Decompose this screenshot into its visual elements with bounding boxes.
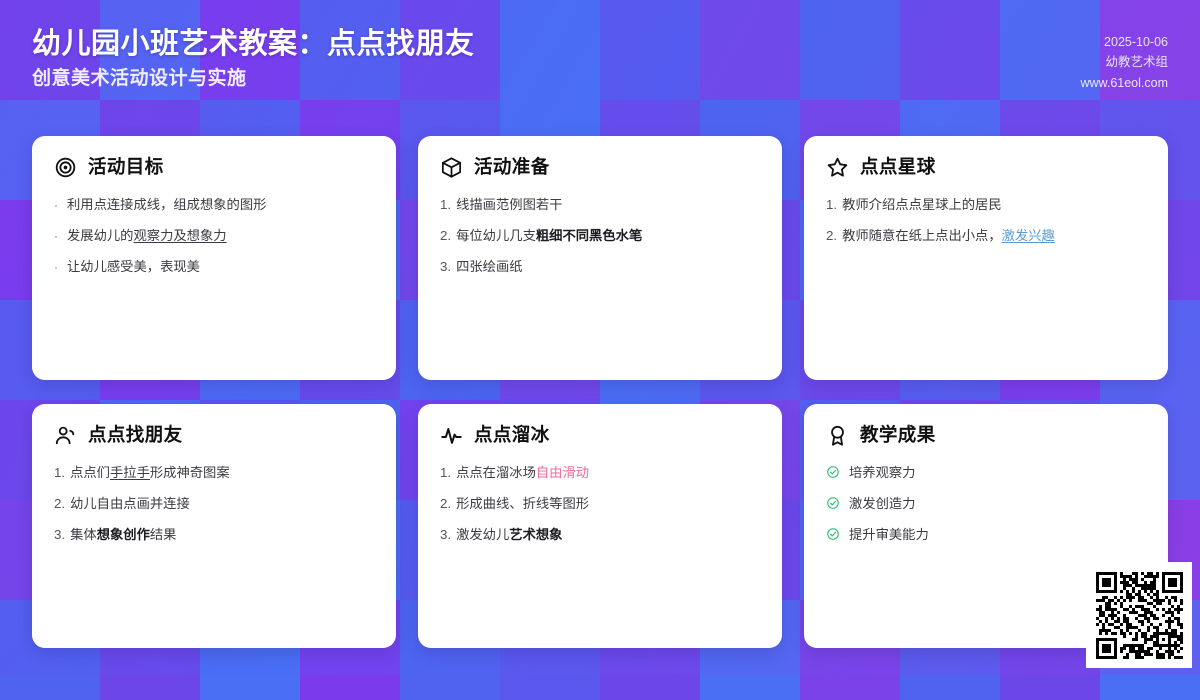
list-item: ·让幼儿感受美，表现美	[54, 257, 374, 277]
list-item-text: 每位幼儿几支粗细不同黑色水笔	[456, 226, 760, 246]
card-item-list: 1.点点们手拉手形成神奇图案2.幼儿自由点画并连接3.集体想象创作结果	[54, 463, 374, 545]
card-header: 教学成果	[826, 424, 1146, 447]
header-url: www.61eol.com	[1080, 73, 1168, 93]
emphasis-bold: 艺术想象	[509, 527, 562, 542]
bullet-marker: ·	[54, 227, 58, 245]
list-item-text: 发展幼儿的观察力及想象力	[67, 226, 374, 246]
text-run: 点点们	[70, 465, 110, 480]
text-run: 发展幼儿的	[67, 228, 133, 243]
list-item-text: 让幼儿感受美，表现美	[67, 257, 374, 277]
text-run: 四张绘画纸	[456, 259, 522, 274]
list-item-text: 激发创造力	[849, 494, 1146, 514]
header-date: 2025-10-06	[1104, 32, 1168, 52]
list-item: 激发创造力	[826, 494, 1146, 514]
list-number: 3.	[440, 257, 451, 277]
list-item: 1.线描画范例图若干	[440, 195, 760, 215]
card-title: 活动目标	[88, 156, 164, 178]
card-header: 活动准备	[440, 156, 760, 179]
text-run: 提升审美能力	[849, 527, 929, 542]
page-subtitle: 创意美术活动设计与实施	[32, 67, 475, 92]
card-item-list: ·利用点连接成线，组成想象的图形·发展幼儿的观察力及想象力·让幼儿感受美，表现美	[54, 195, 374, 277]
slide-header: 幼儿园小班艺术教案：点点找朋友 创意美术活动设计与实施 2025-10-06 幼…	[0, 0, 1200, 120]
text-run: 每位幼儿几支	[456, 228, 536, 243]
card-header: 点点溜冰	[440, 424, 760, 447]
list-item: 3.四张绘画纸	[440, 257, 760, 277]
target-icon	[54, 156, 77, 179]
list-number: 1.	[440, 463, 451, 483]
star-icon	[826, 156, 849, 179]
text-run: 幼儿自由点画并连接	[70, 496, 190, 511]
list-item: ·利用点连接成线，组成想象的图形	[54, 195, 374, 215]
card-item-list: 1.点点在溜冰场自由滑动2.形成曲线、折线等图形3.激发幼儿艺术想象	[440, 463, 760, 545]
page-title: 幼儿园小班艺术教案：点点找朋友	[32, 26, 475, 62]
card-activity-preparation: 活动准备1.线描画范例图若干2.每位幼儿几支粗细不同黑色水笔3.四张绘画纸	[418, 136, 782, 380]
list-item: 1.点点在溜冰场自由滑动	[440, 463, 760, 483]
list-item: 3.激发幼儿艺术想象	[440, 525, 760, 545]
card-title: 点点星球	[860, 156, 936, 178]
list-item-text: 点点在溜冰场自由滑动	[456, 463, 760, 483]
text-run: 利用点连接成线，组成想象的图形	[67, 197, 266, 212]
header-meta: 2025-10-06 幼教艺术组 www.61eol.com	[1080, 26, 1168, 93]
list-item: 3.集体想象创作结果	[54, 525, 374, 545]
list-item: 培养观察力	[826, 463, 1146, 483]
list-number: 2.	[440, 494, 451, 514]
card-title: 教学成果	[860, 424, 936, 446]
activity-pulse-icon	[440, 424, 463, 447]
list-item-text: 集体想象创作结果	[70, 525, 374, 545]
list-item-text: 教师随意在纸上点出小点，激发兴趣	[842, 226, 1146, 246]
list-item: 2.教师随意在纸上点出小点，激发兴趣	[826, 226, 1146, 246]
list-item-text: 利用点连接成线，组成想象的图形	[67, 195, 374, 215]
qr-code[interactable]	[1086, 562, 1192, 668]
award-icon	[826, 424, 849, 447]
list-item: 1.教师介绍点点星球上的居民	[826, 195, 1146, 215]
text-run: 线描画范例图若干	[456, 197, 562, 212]
card-grid: 活动目标·利用点连接成线，组成想象的图形·发展幼儿的观察力及想象力·让幼儿感受美…	[32, 136, 1168, 648]
emphasis-bold: 想象创作	[97, 527, 150, 542]
list-item-text: 线描画范例图若干	[456, 195, 760, 215]
qr-code-image	[1093, 569, 1186, 662]
list-item: 2.幼儿自由点画并连接	[54, 494, 374, 514]
emphasis-underline: 手拉手	[110, 465, 150, 480]
list-item: 2.形成曲线、折线等图形	[440, 494, 760, 514]
card-item-list: 培养观察力激发创造力提升审美能力	[826, 463, 1146, 545]
text-run: 教师随意在纸上点出小点，	[842, 228, 1002, 243]
list-item-text: 培养观察力	[849, 463, 1146, 483]
card-dots-find-friends: 点点找朋友1.点点们手拉手形成神奇图案2.幼儿自由点画并连接3.集体想象创作结果	[32, 404, 396, 648]
card-item-list: 1.线描画范例图若干2.每位幼儿几支粗细不同黑色水笔3.四张绘画纸	[440, 195, 760, 277]
list-item-text: 形成曲线、折线等图形	[456, 494, 760, 514]
text-run: 激发创造力	[849, 496, 915, 511]
list-number: 3.	[54, 525, 65, 545]
check-circle-icon	[826, 465, 840, 479]
list-item-text: 提升审美能力	[849, 525, 1146, 545]
users-icon	[54, 424, 77, 447]
list-number: 1.	[54, 463, 65, 483]
text-run: 教师介绍点点星球上的居民	[842, 197, 1002, 212]
list-item: 2.每位幼儿几支粗细不同黑色水笔	[440, 226, 760, 246]
list-number: 2.	[440, 226, 451, 246]
list-item-text: 幼儿自由点画并连接	[70, 494, 374, 514]
list-item-text: 点点们手拉手形成神奇图案	[70, 463, 374, 483]
list-item: 1.点点们手拉手形成神奇图案	[54, 463, 374, 483]
card-activity-goals: 活动目标·利用点连接成线，组成想象的图形·发展幼儿的观察力及想象力·让幼儿感受美…	[32, 136, 396, 380]
list-number: 2.	[826, 226, 837, 246]
card-title: 点点找朋友	[88, 424, 183, 446]
text-run: 形成神奇图案	[150, 465, 230, 480]
text-run: 激发幼儿	[456, 527, 509, 542]
box-icon	[440, 156, 463, 179]
card-dot-planet: 点点星球1.教师介绍点点星球上的居民2.教师随意在纸上点出小点，激发兴趣	[804, 136, 1168, 380]
card-title: 点点溜冰	[474, 424, 550, 446]
emphasis-underline: 观察力及想象力	[133, 228, 226, 243]
text-run: 让幼儿感受美，表现美	[67, 259, 200, 274]
card-header: 活动目标	[54, 156, 374, 179]
emphasis-bold: 粗细不同黑色水笔	[536, 228, 642, 243]
list-item-text: 教师介绍点点星球上的居民	[842, 195, 1146, 215]
card-header: 点点星球	[826, 156, 1146, 179]
list-item: 提升审美能力	[826, 525, 1146, 545]
list-number: 3.	[440, 525, 451, 545]
list-number: 1.	[440, 195, 451, 215]
inline-link[interactable]: 激发兴趣	[1002, 228, 1055, 243]
bullet-marker: ·	[54, 196, 58, 214]
card-dots-skating: 点点溜冰1.点点在溜冰场自由滑动2.形成曲线、折线等图形3.激发幼儿艺术想象	[418, 404, 782, 648]
list-item-text: 激发幼儿艺术想象	[456, 525, 760, 545]
text-run: 集体	[70, 527, 97, 542]
emphasis-highlight: 自由滑动	[536, 465, 589, 480]
header-left: 幼儿园小班艺术教案：点点找朋友 创意美术活动设计与实施	[32, 26, 475, 92]
text-run: 点点在溜冰场	[456, 465, 536, 480]
check-circle-icon	[826, 527, 840, 541]
check-circle-icon	[826, 496, 840, 510]
text-run: 培养观察力	[849, 465, 915, 480]
list-item-text: 四张绘画纸	[456, 257, 760, 277]
card-header: 点点找朋友	[54, 424, 374, 447]
card-item-list: 1.教师介绍点点星球上的居民2.教师随意在纸上点出小点，激发兴趣	[826, 195, 1146, 246]
header-org: 幼教艺术组	[1105, 52, 1168, 72]
list-item: ·发展幼儿的观察力及想象力	[54, 226, 374, 246]
list-number: 2.	[54, 494, 65, 514]
text-run: 结果	[150, 527, 177, 542]
card-title: 活动准备	[474, 156, 550, 178]
text-run: 形成曲线、折线等图形	[456, 496, 589, 511]
bullet-marker: ·	[54, 258, 58, 276]
list-number: 1.	[826, 195, 837, 215]
